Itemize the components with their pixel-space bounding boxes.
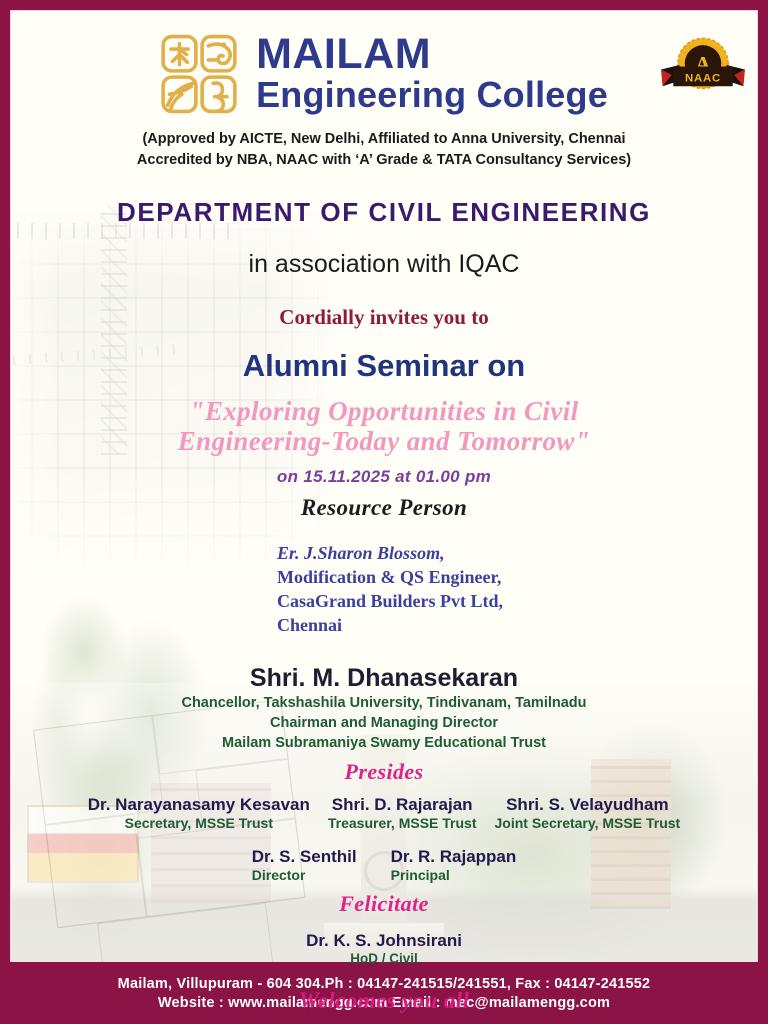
- trustee-role: Joint Secretary, MSSE Trust: [495, 815, 681, 831]
- official-name: Dr. S. Senthil: [252, 847, 357, 867]
- presides-label: Presides: [11, 759, 757, 785]
- svg-text:NAAC: NAAC: [685, 73, 721, 85]
- resource-person-name: Er. J.Sharon Blossom,: [277, 541, 757, 565]
- official-item: Dr. R. Rajappan Principal: [391, 847, 517, 883]
- mailam-grid-logo-icon: [160, 33, 238, 115]
- brand-name-primary: MAILAM: [256, 33, 608, 75]
- official-role: Principal: [391, 867, 517, 883]
- official-role: Director: [252, 867, 357, 883]
- chief-guest-name: Shri. M. Dhanasekaran: [11, 664, 757, 693]
- poster-page: MAILAM Engineering College A: [10, 10, 758, 1014]
- naac-accreditation-badge-icon: A NAAC: [661, 33, 745, 103]
- association-line: in association with IQAC: [11, 250, 757, 279]
- trustee-name: Dr. Narayanasamy Kesavan: [88, 795, 310, 815]
- event-type-title: Alumni Seminar on: [11, 348, 757, 384]
- felicitate-label: Felicitate: [11, 891, 757, 917]
- trustee-item: Shri. S. Velayudham Joint Secretary, MSS…: [495, 795, 681, 831]
- hod-block: Dr. K. S. Johnsirani HoD / Civil: [11, 931, 757, 966]
- approval-line-2: Accredited by NBA, NAAC with ‘A’ Grade &…: [11, 150, 757, 171]
- resource-person-heading: Resource Person: [11, 495, 757, 521]
- chief-role-line-1: Chancellor, Takshashila University, Tind…: [11, 693, 757, 713]
- officials-row: Dr. S. Senthil Director Dr. R. Rajappan …: [11, 847, 757, 883]
- brand-name-secondary: Engineering College: [256, 75, 608, 115]
- seminar-topic-line-2: Engineering-Today and Tomorrow": [11, 426, 757, 456]
- resource-person-designation: Modification & QS Engineer,: [277, 565, 757, 589]
- trustee-role: Treasurer, MSSE Trust: [328, 815, 477, 831]
- chief-guest-roles: Chancellor, Takshashila University, Tind…: [11, 693, 757, 753]
- chief-role-line-3: Mailam Subramaniya Swamy Educational Tru…: [11, 733, 757, 753]
- trustee-role: Secretary, MSSE Trust: [88, 815, 310, 831]
- resource-person-details: Er. J.Sharon Blossom, Modification & QS …: [11, 541, 757, 638]
- trustee-name: Shri. S. Velayudham: [495, 795, 681, 815]
- chief-role-line-2: Chairman and Managing Director: [11, 713, 757, 733]
- seminar-topic-line-1: "Exploring Opportunities in Civil: [11, 396, 757, 426]
- brand-row: MAILAM Engineering College: [11, 33, 757, 115]
- invitation-poster: MAILAM Engineering College A: [0, 0, 768, 1024]
- hod-name: Dr. K. S. Johnsirani: [11, 931, 757, 951]
- seminar-topic: "Exploring Opportunities in Civil Engine…: [11, 396, 757, 456]
- accreditation-note: (Approved by AICTE, New Delhi, Affiliate…: [11, 129, 757, 171]
- official-item: Dr. S. Senthil Director: [252, 847, 357, 883]
- approval-line-1: (Approved by AICTE, New Delhi, Affiliate…: [11, 129, 757, 150]
- hod-role: HoD / Civil: [11, 951, 757, 966]
- brand-text: MAILAM Engineering College: [256, 33, 608, 115]
- poster-header: MAILAM Engineering College A: [11, 11, 757, 171]
- event-datetime: on 15.11.2025 at 01.00 pm: [11, 467, 757, 487]
- resource-person-organization: CasaGrand Builders Pvt Ltd,: [277, 589, 757, 613]
- official-name: Dr. R. Rajappan: [391, 847, 517, 867]
- welcome-label: Welcomes you all: [11, 988, 757, 1014]
- trustee-name: Shri. D. Rajarajan: [328, 795, 477, 815]
- trustee-item: Dr. Narayanasamy Kesavan Secretary, MSSE…: [88, 795, 310, 831]
- department-title: DEPARTMENT OF CIVIL ENGINEERING: [11, 197, 757, 228]
- trustees-row: Dr. Narayanasamy Kesavan Secretary, MSSE…: [11, 795, 757, 831]
- trustee-item: Shri. D. Rajarajan Treasurer, MSSE Trust: [328, 795, 477, 831]
- resource-person-city: Chennai: [277, 613, 757, 637]
- cordial-invite-line: Cordially invites you to: [11, 305, 757, 330]
